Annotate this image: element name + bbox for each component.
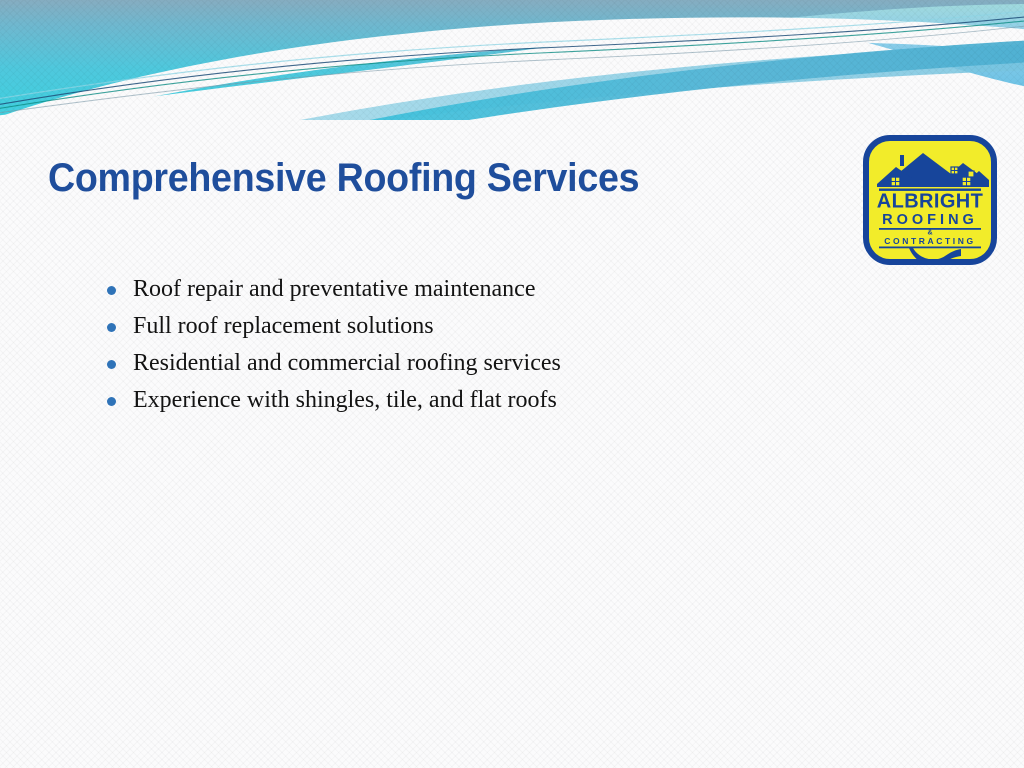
presentation-slide: Comprehensive Roofing Services Roof repa…: [0, 0, 1024, 768]
page-title: Comprehensive Roofing Services: [48, 154, 762, 202]
logo-brand-text: ALBRIGHT: [877, 191, 984, 213]
list-item-label: Full roof replacement solutions: [133, 308, 434, 345]
list-item: Experience with shingles, tile, and flat…: [100, 382, 840, 419]
bullet-dot-icon: [107, 323, 116, 332]
slide-content: Comprehensive Roofing Services Roof repa…: [0, 0, 1024, 768]
list-item-label: Residential and commercial roofing servi…: [133, 345, 561, 382]
logo-line3-text: CONTRACTING: [884, 236, 975, 246]
list-item-label: Experience with shingles, tile, and flat…: [133, 382, 557, 419]
company-logo: ALBRIGHT ROOFING & CONTRACTING: [863, 135, 997, 265]
list-item: Residential and commercial roofing servi…: [100, 345, 840, 382]
bullet-dot-icon: [107, 286, 116, 295]
logo-line2-text: ROOFING: [882, 212, 978, 228]
bullet-list: Roof repair and preventative maintenance…: [100, 271, 840, 419]
logo-divider-bottom: [879, 247, 981, 249]
list-item: Full roof replacement solutions: [100, 308, 840, 345]
bullet-dot-icon: [107, 360, 116, 369]
list-item: Roof repair and preventative maintenance: [100, 271, 840, 308]
bullet-dot-icon: [107, 397, 116, 406]
list-item-label: Roof repair and preventative maintenance: [133, 271, 535, 308]
logo-divider-mid: [879, 228, 981, 230]
